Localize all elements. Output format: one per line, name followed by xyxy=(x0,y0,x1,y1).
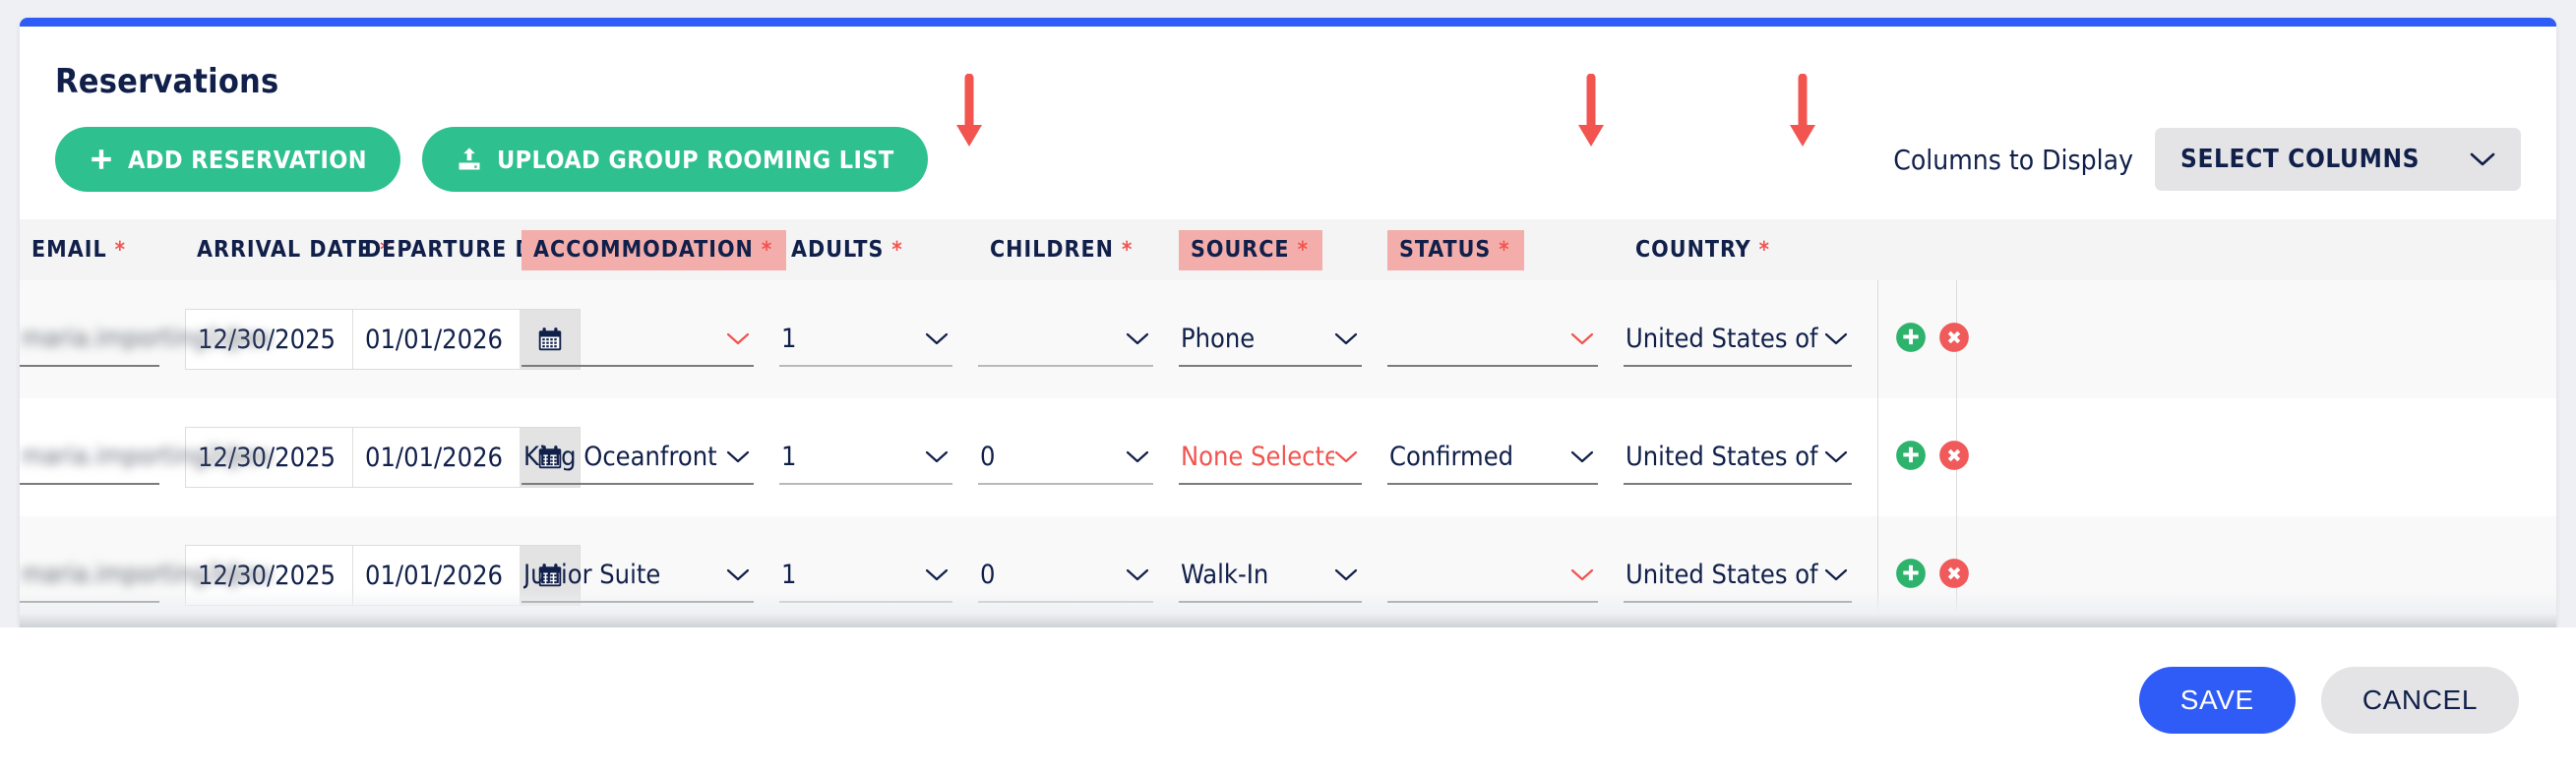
add-row-icon[interactable] xyxy=(1894,557,1928,595)
col-header-adults[interactable]: ADULTS* xyxy=(779,219,978,280)
chevron-down-icon xyxy=(925,444,949,469)
chevron-down-icon xyxy=(1570,562,1594,587)
reservations-table: EMAIL* ARRIVAL DATE* DEPARTURE DATE* ACC… xyxy=(20,219,2556,624)
col-header-source-label: SOURCE xyxy=(1191,237,1290,263)
chevron-down-icon xyxy=(1824,562,1848,587)
accommodation-select[interactable]: King Oceanfront xyxy=(521,430,754,485)
add-reservation-button[interactable]: ADD RESERVATION xyxy=(55,127,400,192)
chevron-down-icon xyxy=(1570,444,1594,469)
cell-email: maria.importing1@ex xyxy=(20,280,185,398)
col-header-accommodation-label: ACCOMMODATION xyxy=(533,237,754,263)
required-marker: * xyxy=(762,238,772,263)
required-marker: * xyxy=(1298,238,1309,263)
country-select[interactable]: United States of xyxy=(1624,548,1852,603)
adults-select-value: 1 xyxy=(781,442,796,472)
country-select[interactable]: United States of xyxy=(1624,430,1852,485)
source-select[interactable]: Phone xyxy=(1179,312,1362,367)
cell-row-actions xyxy=(1877,280,1956,398)
table-head: EMAIL* ARRIVAL DATE* DEPARTURE DATE* ACC… xyxy=(20,219,2556,280)
children-select[interactable] xyxy=(978,312,1153,367)
delete-row-icon[interactable] xyxy=(1937,439,1971,477)
cell-source: Walk-In xyxy=(1179,516,1387,624)
col-header-accommodation[interactable]: ACCOMMODATION* xyxy=(521,219,779,280)
children-select-value: 0 xyxy=(980,560,995,590)
col-header-adults-label: ADULTS xyxy=(791,237,884,263)
col-header-email[interactable]: EMAIL* xyxy=(20,219,185,280)
table-header-row: EMAIL* ARRIVAL DATE* DEPARTURE DATE* ACC… xyxy=(20,219,2556,280)
source-select-value: None Selected xyxy=(1181,442,1334,472)
columns-to-display-label: Columns to Display xyxy=(1893,144,2133,176)
chevron-down-icon xyxy=(1334,444,1358,469)
accommodation-select-value: Junior Suite xyxy=(523,560,660,590)
status-select[interactable]: Confirmed xyxy=(1387,430,1598,485)
upload-group-rooming-list-label: UPLOAD GROUP ROOMING LIST xyxy=(497,146,894,174)
accommodation-select-value: King Oceanfront xyxy=(523,442,717,472)
page-title: Reservations xyxy=(55,62,2521,101)
email-value-redacted: maria.importing3@ex xyxy=(22,560,272,589)
col-header-children-label: CHILDREN xyxy=(990,237,1114,263)
accommodation-select[interactable] xyxy=(521,312,754,367)
chevron-down-icon xyxy=(726,444,750,469)
source-select-value: Walk-In xyxy=(1181,560,1268,590)
upload-icon xyxy=(456,146,483,173)
chevron-down-icon xyxy=(1824,444,1848,469)
cell-email: maria.importing2@ex xyxy=(20,398,185,516)
chevron-down-icon xyxy=(925,326,949,351)
cell-departure-date xyxy=(352,398,521,516)
source-select-value: Phone xyxy=(1181,324,1255,354)
col-header-arrival-date-label: ARRIVAL DATE xyxy=(197,237,372,263)
cell-children xyxy=(978,280,1179,398)
cell-adults: 1 xyxy=(779,516,978,624)
table-body: maria.importing1@ex xyxy=(20,280,2556,624)
upload-group-rooming-list-button[interactable]: UPLOAD GROUP ROOMING LIST xyxy=(422,127,928,192)
cell-children: 0 xyxy=(978,398,1179,516)
reservations-card: Reservations ADD RESERVATION xyxy=(20,18,2556,627)
cell-country: United States of xyxy=(1624,280,1877,398)
chevron-down-icon xyxy=(925,562,949,587)
plus-icon xyxy=(89,147,114,172)
required-marker: * xyxy=(115,238,126,263)
source-select[interactable]: Walk-In xyxy=(1179,548,1362,603)
cell-spacer xyxy=(1956,280,2556,398)
cell-row-actions xyxy=(1877,398,1956,516)
status-select[interactable] xyxy=(1387,548,1598,603)
select-columns-dropdown[interactable]: SELECT COLUMNS xyxy=(2155,128,2521,191)
cell-accommodation: King Oceanfront xyxy=(521,398,779,516)
cell-adults: 1 xyxy=(779,398,978,516)
cell-country: United States of xyxy=(1624,516,1877,624)
table-row: maria.importing2@ex xyxy=(20,398,2556,516)
chevron-down-icon xyxy=(1570,326,1594,351)
cell-spacer xyxy=(1956,398,2556,516)
country-select-value: United States of xyxy=(1625,442,1818,472)
col-header-departure-date[interactable]: DEPARTURE DATE* xyxy=(352,219,521,280)
adults-select[interactable]: 1 xyxy=(779,548,952,603)
source-select[interactable]: None Selected xyxy=(1179,430,1362,485)
add-reservation-label: ADD RESERVATION xyxy=(128,146,367,174)
children-select[interactable]: 0 xyxy=(978,548,1153,603)
chevron-down-icon xyxy=(1126,562,1149,587)
departure-date-input[interactable] xyxy=(352,545,520,606)
cell-country: United States of xyxy=(1624,398,1877,516)
email-value-redacted: maria.importing2@ex xyxy=(22,442,272,471)
col-header-source[interactable]: SOURCE* xyxy=(1179,219,1387,280)
chevron-down-icon xyxy=(2470,145,2495,174)
adults-select[interactable]: 1 xyxy=(779,430,952,485)
cell-status xyxy=(1387,516,1624,624)
email-value-redacted: maria.importing1@ex xyxy=(22,324,272,353)
chevron-down-icon xyxy=(1824,326,1848,351)
toolbar: ADD RESERVATION UPLOAD GROUP ROOMING LIS… xyxy=(55,127,2521,192)
col-header-actions xyxy=(1877,219,1956,280)
adults-select-value: 1 xyxy=(781,560,796,590)
chevron-down-icon xyxy=(1126,326,1149,351)
footer-actions: SAVE CANCEL xyxy=(0,627,2576,773)
required-marker: * xyxy=(1122,238,1133,263)
col-header-arrival-date[interactable]: ARRIVAL DATE* xyxy=(185,219,352,280)
cell-status xyxy=(1387,280,1624,398)
cell-children: 0 xyxy=(978,516,1179,624)
email-field[interactable]: maria.importing1@ex xyxy=(20,312,159,367)
chevron-down-icon xyxy=(1334,562,1358,587)
col-header-status-label: STATUS xyxy=(1399,237,1491,263)
col-header-country[interactable]: COUNTRY* xyxy=(1624,219,1877,280)
country-select[interactable]: United States of xyxy=(1624,312,1852,367)
email-field[interactable]: maria.importing3@ex xyxy=(20,548,159,603)
adults-select[interactable]: 1 xyxy=(779,312,952,367)
country-select-value: United States of xyxy=(1625,324,1818,354)
add-row-icon[interactable] xyxy=(1894,439,1928,477)
cancel-button[interactable]: CANCEL xyxy=(2321,667,2519,734)
children-select[interactable]: 0 xyxy=(978,430,1153,485)
cell-departure-date xyxy=(352,280,521,398)
cell-row-actions xyxy=(1877,516,1956,624)
status-select[interactable] xyxy=(1387,312,1598,367)
country-select-value: United States of xyxy=(1625,560,1818,590)
chevron-down-icon xyxy=(1334,326,1358,351)
chevron-down-icon xyxy=(726,562,750,587)
table-row: maria.importing1@ex xyxy=(20,280,2556,398)
cell-status: Confirmed xyxy=(1387,398,1624,516)
cell-departure-date xyxy=(352,516,521,624)
cell-spacer xyxy=(1956,516,2556,624)
col-header-country-label: COUNTRY xyxy=(1635,237,1751,263)
accommodation-select[interactable]: Junior Suite xyxy=(521,548,754,603)
departure-date-input[interactable] xyxy=(352,427,520,488)
table-row: maria.importing3@ex xyxy=(20,516,2556,624)
required-marker: * xyxy=(1759,238,1770,263)
required-marker: * xyxy=(1499,238,1509,263)
reservations-page: Reservations ADD RESERVATION xyxy=(0,0,2576,773)
email-field[interactable]: maria.importing2@ex xyxy=(20,430,159,485)
children-select-value: 0 xyxy=(980,442,995,472)
cell-source: Phone xyxy=(1179,280,1387,398)
card-header: Reservations ADD RESERVATION xyxy=(20,27,2556,192)
col-header-spacer xyxy=(1956,219,2556,280)
cell-adults: 1 xyxy=(779,280,978,398)
chevron-down-icon xyxy=(1126,444,1149,469)
departure-date-input[interactable] xyxy=(352,309,520,370)
status-select-value: Confirmed xyxy=(1389,442,1513,472)
cell-accommodation: Junior Suite xyxy=(521,516,779,624)
delete-row-icon[interactable] xyxy=(1937,321,1971,359)
delete-row-icon[interactable] xyxy=(1937,557,1971,595)
col-header-email-label: EMAIL xyxy=(31,237,107,263)
reservations-table-scroll[interactable]: EMAIL* ARRIVAL DATE* DEPARTURE DATE* ACC… xyxy=(20,219,2556,624)
save-button[interactable]: SAVE xyxy=(2139,667,2296,734)
col-header-children[interactable]: CHILDREN* xyxy=(978,219,1179,280)
required-marker: * xyxy=(891,238,902,263)
cell-email: maria.importing3@ex xyxy=(20,516,185,624)
cell-accommodation xyxy=(521,280,779,398)
columns-to-display-group: Columns to Display SELECT COLUMNS xyxy=(1893,128,2521,191)
select-columns-label: SELECT COLUMNS xyxy=(2180,145,2420,174)
adults-select-value: 1 xyxy=(781,324,796,354)
add-row-icon[interactable] xyxy=(1894,321,1928,359)
cell-source: None Selected xyxy=(1179,398,1387,516)
col-header-status[interactable]: STATUS* xyxy=(1387,219,1624,280)
chevron-down-icon xyxy=(726,326,750,351)
